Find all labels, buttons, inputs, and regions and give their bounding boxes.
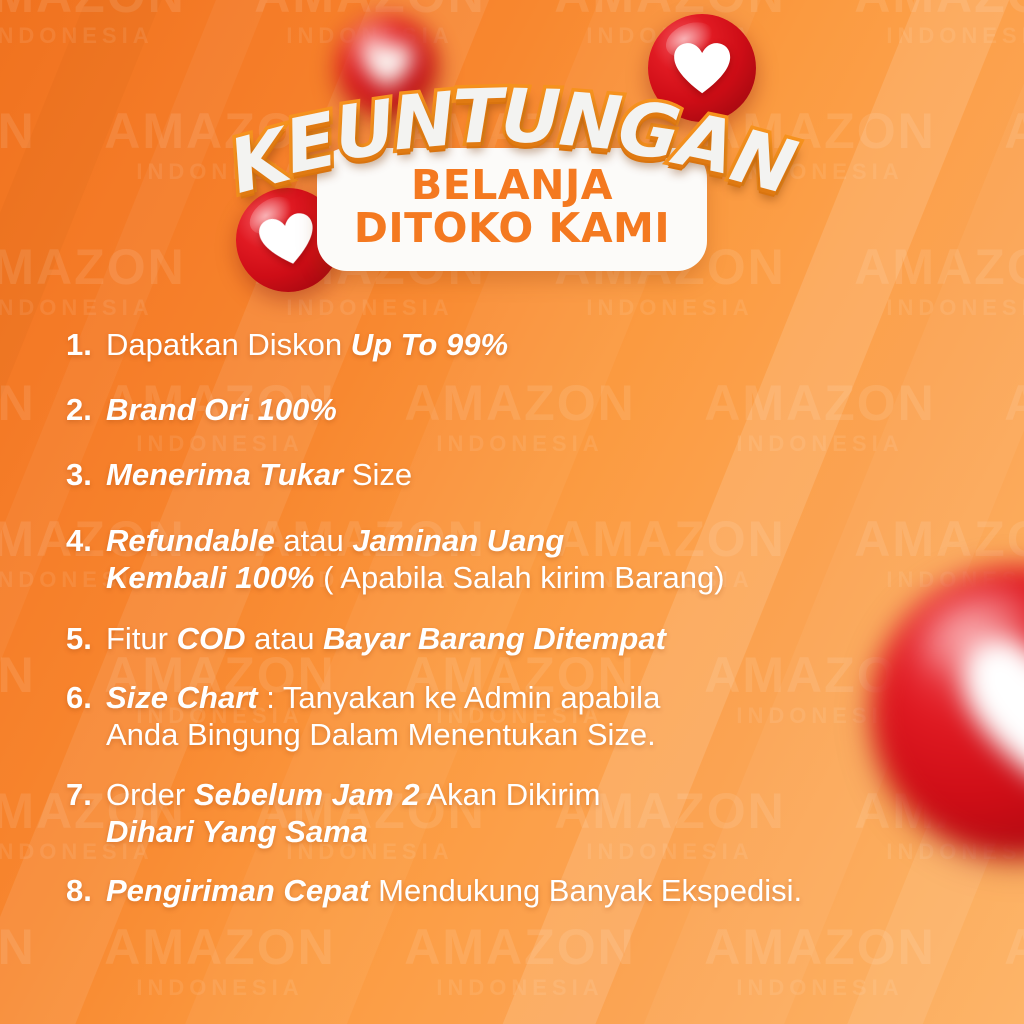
benefit-highlight: Sebelum Jam 2 [194, 777, 420, 812]
benefit-highlight: Pengiriman Cepat [106, 873, 370, 908]
benefit-text: Anda Bingung Dalam Menentukan Size. [106, 716, 1024, 753]
benefit-continuation-line: Anda Bingung Dalam Menentukan Size. [0, 716, 1024, 753]
benefit-continuation-line: Dihari Yang Sama [0, 813, 1024, 850]
watermark-brand: AMAZON [390, 922, 650, 972]
watermark-brand: AMAZON [90, 922, 350, 972]
watermark-country: INDONESIA [90, 977, 350, 999]
benefit-text: Refundable atau Jaminan Uang [106, 522, 1024, 559]
title-letter: T [451, 73, 502, 160]
benefit-row: 2.Brand Ori 100% [0, 391, 1024, 428]
benefit-text: Fitur COD atau Bayar Barang Ditempat [106, 620, 1024, 657]
benefit-plain: Size [343, 457, 412, 492]
benefit-continuation-line: Kembali 100% ( Apabila Salah kirim Baran… [0, 559, 1024, 596]
benefit-number: 6. [66, 679, 106, 716]
title-letter: U [500, 73, 561, 161]
watermark-text: AMAZONINDONESIA [690, 922, 950, 999]
watermark-country: INDONESIA [540, 297, 800, 319]
watermark-country: INDONESIA [990, 977, 1024, 999]
title-letter: N [389, 76, 456, 167]
benefit-highlight: Brand Ori 100% [106, 392, 337, 427]
benefit-plain: ( Apabila Salah kirim Barang) [315, 560, 725, 595]
benefit-number: 5. [66, 620, 106, 657]
benefit-plain: Fitur [106, 621, 177, 656]
promo-poster: AMAZONINDONESIAAMAZONINDONESIAAMAZONINDO… [0, 0, 1024, 1024]
benefit-text: Kembali 100% ( Apabila Salah kirim Baran… [106, 559, 1024, 596]
watermark-brand: AMAZON [690, 922, 950, 972]
benefit-text: Order Sebelum Jam 2 Akan Dikirim [106, 776, 1024, 813]
watermark-country: INDONESIA [0, 297, 200, 319]
watermark-text: AMAZONINDONESIA [990, 922, 1024, 999]
benefit-plain: Anda Bingung Dalam Menentukan Size. [106, 717, 656, 752]
benefit-text: Dihari Yang Sama [106, 813, 1024, 850]
benefit-number: 2. [66, 391, 106, 428]
benefit-highlight: Size Chart [106, 680, 258, 715]
watermark-country: INDONESIA [390, 977, 650, 999]
benefits-list: 1.Dapatkan Diskon Up To 99%2.Brand Ori 1… [0, 326, 1024, 909]
benefit-row: 1.Dapatkan Diskon Up To 99% [0, 326, 1024, 363]
benefit-plain: atau [246, 621, 324, 656]
benefit-row: 3.Menerima Tukar Size [0, 456, 1024, 493]
watermark-country: INDONESIA [690, 977, 950, 999]
watermark-brand: AMAZON [990, 922, 1024, 972]
benefit-row: 6.Size Chart : Tanyakan ke Admin apabila [0, 679, 1024, 716]
benefit-row: 5.Fitur COD atau Bayar Barang Ditempat [0, 620, 1024, 657]
watermark-country: INDONESIA [240, 297, 500, 319]
watermark-text: AMAZONINDONESIA [0, 922, 50, 999]
watermark-brand: AMAZON [0, 922, 50, 972]
benefit-highlight: Jaminan Uang [352, 523, 564, 558]
benefit-number: 1. [66, 326, 106, 363]
benefit-text: Brand Ori 100% [106, 391, 1024, 428]
benefit-plain: Dapatkan Diskon [106, 327, 351, 362]
watermark-country: INDONESIA [840, 297, 1024, 319]
benefit-number: 7. [66, 776, 106, 813]
benefit-plain: Akan Dikirim [420, 777, 601, 812]
poster-header: BELANJA DITOKO KAMI KEUNTUNGAN [0, 0, 1024, 300]
benefit-number: 8. [66, 872, 106, 909]
benefit-row: 8.Pengiriman Cepat Mendukung Banyak Eksp… [0, 872, 1024, 909]
watermark-text: AMAZONINDONESIA [90, 922, 350, 999]
benefit-highlight: Menerima Tukar [106, 457, 343, 492]
benefit-highlight: Kembali 100% [106, 560, 315, 595]
page-title: KEUNTUNGAN [231, 74, 793, 205]
benefit-plain: : Tanyakan ke Admin apabila [258, 680, 661, 715]
benefit-text: Dapatkan Diskon Up To 99% [106, 326, 1024, 363]
benefit-highlight: COD [177, 621, 246, 656]
benefit-row: 7.Order Sebelum Jam 2 Akan Dikirim [0, 776, 1024, 813]
benefit-highlight: Dihari Yang Sama [106, 814, 368, 849]
benefit-highlight: Bayar Barang Ditempat [323, 621, 666, 656]
watermark-text: AMAZONINDONESIA [390, 922, 650, 999]
subtitle-line-2: DITOKO KAMI [335, 207, 689, 250]
title-letter: N [556, 76, 623, 167]
benefit-text: Pengiriman Cepat Mendukung Banyak Eksped… [106, 872, 1024, 909]
benefit-number: 3. [66, 456, 106, 493]
watermark-country: INDONESIA [0, 977, 50, 999]
benefit-number: 4. [66, 522, 106, 559]
title-letter: U [329, 84, 399, 178]
benefit-text: Size Chart : Tanyakan ke Admin apabila [106, 679, 1024, 716]
benefit-plain: Order [106, 777, 194, 812]
benefit-row: 4.Refundable atau Jaminan Uang [0, 522, 1024, 559]
benefit-plain: Mendukung Banyak Ekspedisi. [370, 873, 803, 908]
benefit-plain: atau [275, 523, 353, 558]
benefit-highlight: Refundable [106, 523, 275, 558]
benefit-highlight: Up To 99% [351, 327, 508, 362]
benefit-text: Menerima Tukar Size [106, 456, 1024, 493]
